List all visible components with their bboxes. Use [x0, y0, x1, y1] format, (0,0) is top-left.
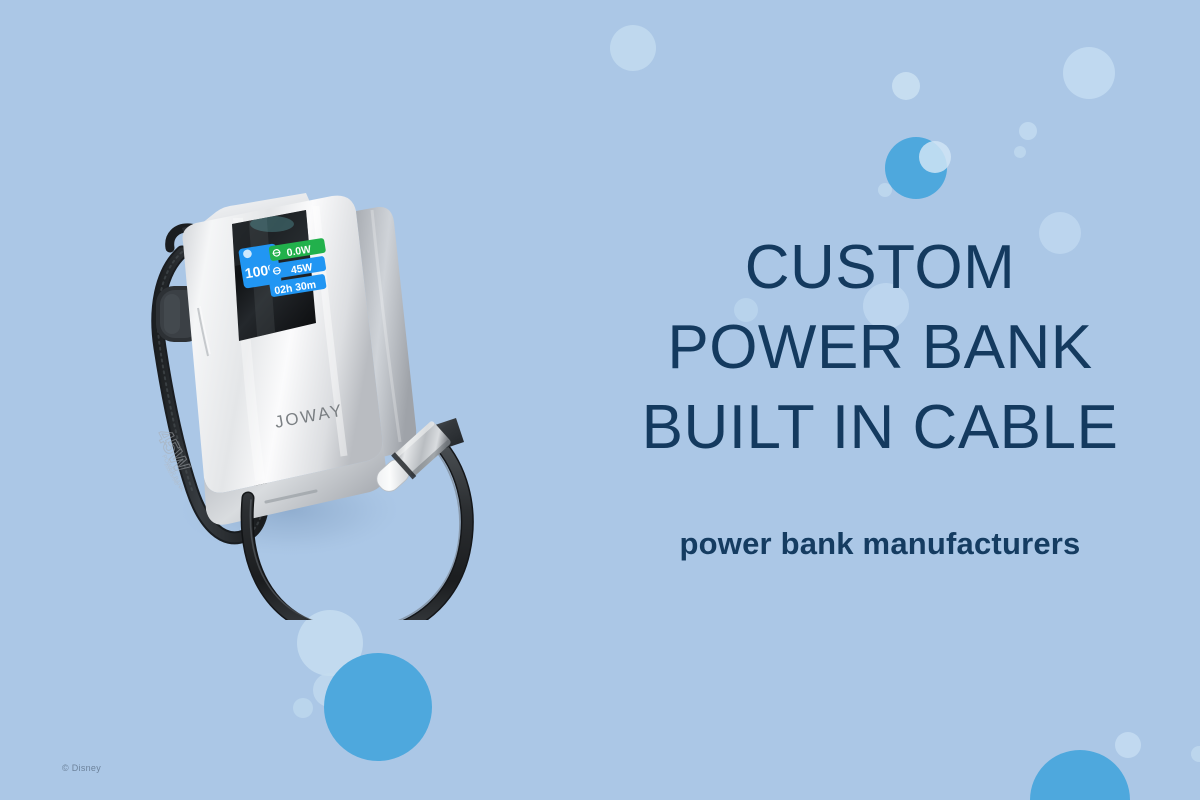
bokeh-circle [1115, 732, 1141, 758]
bokeh-circle [610, 25, 656, 71]
bokeh-circle [1063, 47, 1115, 99]
headline-line-2: POWER BANK [600, 308, 1160, 388]
bokeh-circle [324, 653, 432, 761]
bokeh-circle [878, 183, 892, 197]
bokeh-circle [919, 141, 951, 173]
bokeh-circle [1014, 146, 1026, 158]
bokeh-circle [1191, 746, 1200, 762]
product-image-power-bank: 100% 0.0W 45W [120, 180, 560, 620]
bokeh-circle [293, 698, 313, 718]
banner-canvas: 100% 0.0W 45W [0, 0, 1200, 800]
bokeh-circle [1019, 122, 1037, 140]
bokeh-circle [885, 137, 947, 199]
subheadline: power bank manufacturers [600, 526, 1160, 562]
headline-line-3: BUILT IN CABLE [600, 388, 1160, 468]
copyright-notice: © Disney [62, 763, 101, 773]
bokeh-circle [892, 72, 920, 100]
headline-text-block: CUSTOM POWER BANK BUILT IN CABLE power b… [600, 228, 1160, 562]
bokeh-circle [1030, 750, 1130, 800]
headline-line-1: CUSTOM [600, 228, 1160, 308]
bokeh-circle [313, 673, 347, 707]
